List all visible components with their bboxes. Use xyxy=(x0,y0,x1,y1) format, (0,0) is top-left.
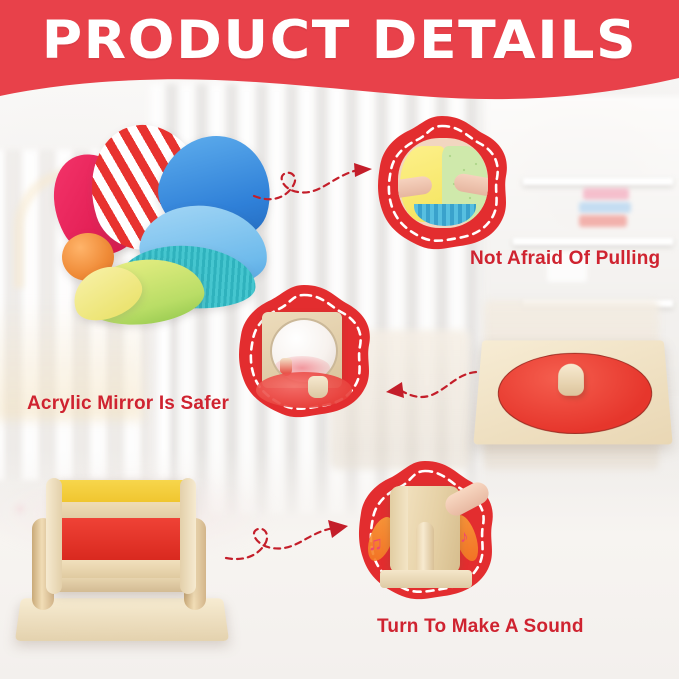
product-details-infographic: PRODUCT DETAILS xyxy=(0,0,679,679)
pull-ball-blue-edge xyxy=(414,204,476,226)
callout-photo-hands-pulling xyxy=(398,138,488,228)
product-wooden-spinning-drum xyxy=(18,470,228,660)
background-shelf-board xyxy=(513,238,673,245)
drum-base xyxy=(380,570,472,588)
mirror-board-knob xyxy=(308,376,328,398)
background-shelf-item xyxy=(579,202,631,213)
page-title: PRODUCT DETAILS xyxy=(0,10,679,71)
arrow-board-to-mirror xyxy=(372,366,492,412)
callout-turn-to-make-a-sound[interactable]: ♫ ♪ xyxy=(352,458,498,604)
background-shelf-item xyxy=(583,188,629,200)
product-wooden-puzzle-board xyxy=(478,330,668,450)
puzzle-wooden-knob xyxy=(558,364,584,396)
drum-panel-wood-top xyxy=(52,502,192,518)
arrow-drum-to-sound xyxy=(222,500,362,570)
callout-not-afraid-of-pulling[interactable] xyxy=(372,112,512,254)
drum-panel-shadow xyxy=(52,578,192,592)
drum-ring-right xyxy=(180,478,196,594)
header-banner: PRODUCT DETAILS xyxy=(0,0,679,112)
callout-acrylic-mirror-is-safer[interactable] xyxy=(232,282,376,422)
music-note-icon: ♪ xyxy=(460,528,469,545)
puzzle-board-wood xyxy=(473,340,672,444)
drum-panel-wood-bottom xyxy=(52,560,192,578)
drum-side xyxy=(390,486,408,574)
drum-barrel xyxy=(52,480,192,592)
caption-turn-to-make-a-sound: Turn To Make A Sound xyxy=(377,616,584,638)
mirror-red-board xyxy=(256,372,352,408)
background-shelf-item xyxy=(579,215,627,227)
background-shelf-board xyxy=(523,178,673,185)
music-notes-icon: ♫ xyxy=(368,534,383,554)
arrow-ball-to-pulling xyxy=(248,150,388,220)
drum-ring-left xyxy=(46,478,62,594)
caption-not-afraid-of-pulling: Not Afraid Of Pulling xyxy=(470,248,660,270)
drum-panel-red xyxy=(52,518,192,560)
drum-panel-yellow xyxy=(52,480,192,502)
caption-acrylic-mirror-is-safer: Acrylic Mirror Is Safer xyxy=(27,393,229,415)
